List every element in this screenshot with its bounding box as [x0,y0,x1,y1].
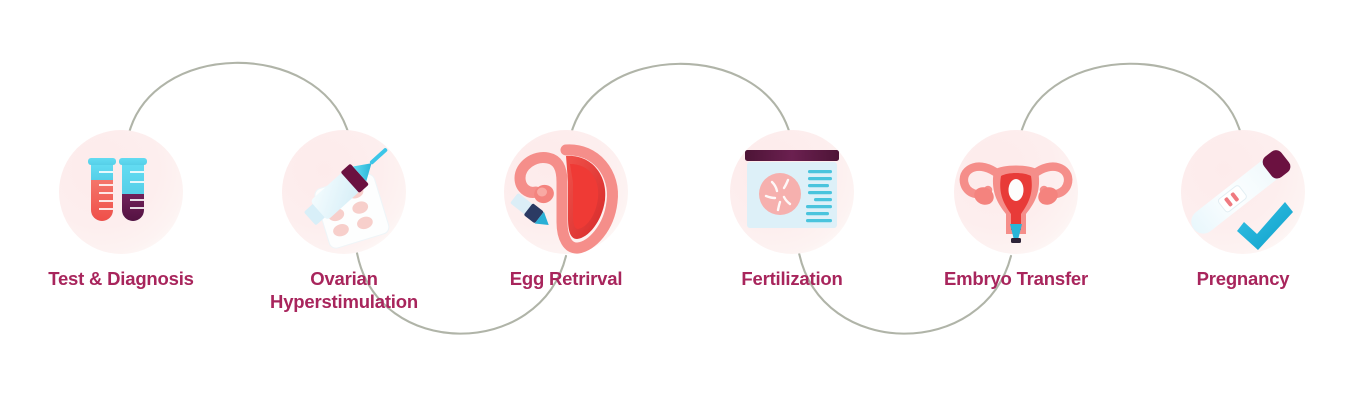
step-pregnancy[interactable]: Pregnancy [1143,130,1343,291]
step-label: Fertilization [692,268,892,291]
uterus-needle-icon [504,130,628,254]
pregnancy-test-icon [1181,130,1305,254]
connector-arc-3-4 [571,64,789,134]
step-label: Pregnancy [1143,268,1343,291]
uterus-catheter-icon [954,130,1078,254]
step-icon-circle [504,130,628,254]
connector-arc-1-2 [128,63,348,137]
step-fertilization[interactable]: Fertilization [692,130,892,291]
test-tubes-icon [59,130,183,254]
step-egg-retrieval[interactable]: Egg Retrirval [466,130,666,291]
step-icon-circle [730,130,854,254]
step-label: Ovarian Hyperstimulation [244,268,444,313]
step-embryo-transfer[interactable]: Embryo Transfer [916,130,1116,291]
step-label: Test & Diagnosis [21,268,221,291]
step-label: Embryo Transfer [916,268,1116,291]
microscope-screen-icon [730,130,854,254]
connector-arc-5-6 [1021,64,1240,133]
step-icon-circle [954,130,1078,254]
step-icon-circle [282,130,406,254]
step-icon-circle [59,130,183,254]
step-icon-circle [1181,130,1305,254]
syringe-pills-icon [282,130,406,254]
step-ovarian-hyperstimulation[interactable]: Ovarian Hyperstimulation [244,130,444,313]
step-test-and-diagnosis[interactable]: Test & Diagnosis [21,130,221,291]
ivf-process-infographic: Test & Diagnosis [0,0,1348,417]
step-label: Egg Retrirval [466,268,666,291]
